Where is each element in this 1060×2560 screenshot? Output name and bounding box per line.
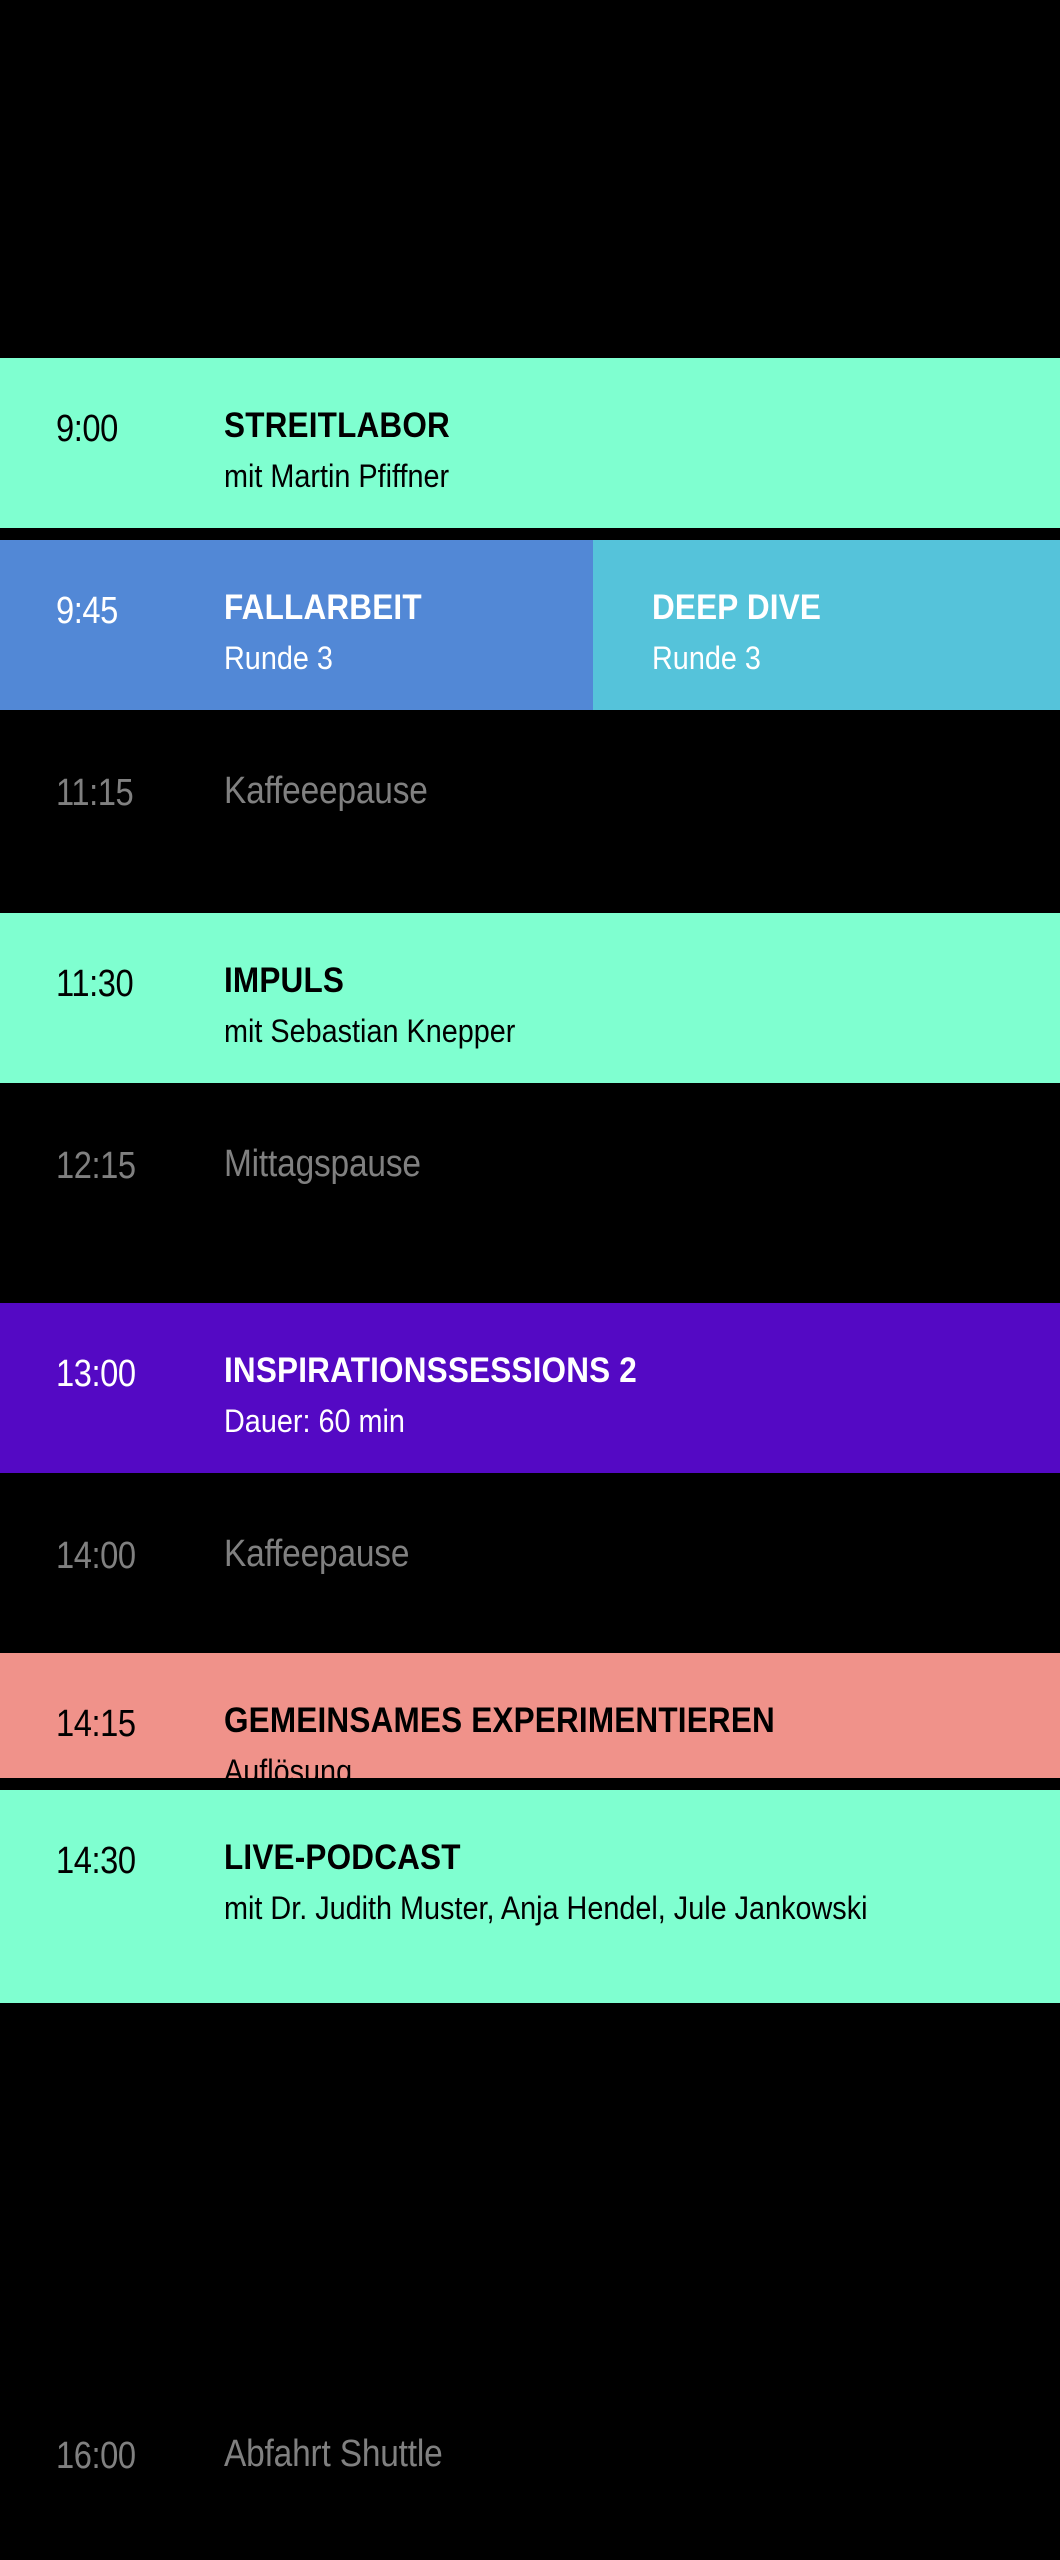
session-subtitle: Auflösung bbox=[224, 1755, 958, 1787]
session-text-block: GEMEINSAMES EXPERIMENTIERENAuflösung bbox=[224, 1703, 1040, 1787]
session-title: INSPIRATIONSSESSIONS 2 bbox=[224, 1353, 958, 1388]
session-title: LIVE-PODCAST bbox=[224, 1840, 958, 1875]
session-title: Mittagspause bbox=[224, 1145, 942, 1183]
schedule-row: 9:00STREITLABORmit Martin Pfiffner bbox=[0, 358, 1060, 528]
session-time: 16:00 bbox=[56, 2435, 136, 2478]
schedule-row: 14:30LIVE-PODCASTmit Dr. Judith Muster, … bbox=[0, 1790, 1060, 2003]
session-subtitle: mit Martin Pfiffner bbox=[224, 460, 958, 492]
schedule-row: 14:15GEMEINSAMES EXPERIMENTIERENAuflösun… bbox=[0, 1653, 1060, 1778]
schedule-row: 12:15Mittagspause bbox=[0, 1095, 1060, 1215]
session-title: IMPULS bbox=[224, 963, 958, 998]
session-subtitle: Dauer: 60 min bbox=[224, 1405, 958, 1437]
session-title: Kaffeeepause bbox=[224, 772, 942, 810]
session-time: 9:45 bbox=[56, 590, 118, 633]
session-text-block: STREITLABORmit Martin Pfiffner bbox=[224, 408, 1040, 492]
session-time: 12:15 bbox=[56, 1145, 136, 1188]
session-title: Kaffeepause bbox=[224, 1535, 942, 1573]
session-time: 14:00 bbox=[56, 1535, 136, 1578]
session-title: STREITLABOR bbox=[224, 408, 958, 443]
session-time: 14:15 bbox=[56, 1703, 136, 1746]
session-title: Abfahrt Shuttle bbox=[224, 2435, 942, 2473]
schedule-row: 13:00INSPIRATIONSSESSIONS 2Dauer: 60 min bbox=[0, 1303, 1060, 1473]
session-text-block: Kaffeeepause bbox=[224, 772, 1040, 810]
session-time: 14:30 bbox=[56, 1840, 136, 1883]
schedule-row: 14:00Kaffeepause bbox=[0, 1485, 1060, 1605]
session-subtitle: mit Dr. Judith Muster, Anja Hendel, Jule… bbox=[224, 1892, 958, 1924]
schedule-table: 9:00STREITLABORmit Martin Pfiffner9:45FA… bbox=[0, 0, 1060, 2560]
session-text-block: DEEP DIVERunde 3 bbox=[652, 590, 1046, 674]
schedule-row: 11:30IMPULSmit Sebastian Knepper bbox=[0, 913, 1060, 1083]
session-text-block: Mittagspause bbox=[224, 1145, 1040, 1183]
session-text-block: LIVE-PODCASTmit Dr. Judith Muster, Anja … bbox=[224, 1840, 1040, 1924]
session-text-block: Kaffeepause bbox=[224, 1535, 1040, 1573]
session-title: DEEP DIVE bbox=[652, 590, 1007, 625]
session-time: 9:00 bbox=[56, 408, 118, 451]
schedule-row: 16:00Abfahrt Shuttle bbox=[0, 2385, 1060, 2505]
session-subtitle: Runde 3 bbox=[652, 642, 1007, 674]
session-text-block: IMPULSmit Sebastian Knepper bbox=[224, 963, 1040, 1047]
session-subtitle: mit Sebastian Knepper bbox=[224, 1015, 958, 1047]
session-time: 11:15 bbox=[56, 772, 133, 815]
schedule-row: 9:45FALLARBEITRunde 3DEEP DIVERunde 3 bbox=[0, 540, 1060, 710]
session-time: 11:30 bbox=[56, 963, 133, 1006]
session-title: GEMEINSAMES EXPERIMENTIEREN bbox=[224, 1703, 958, 1738]
session-text-block: INSPIRATIONSSESSIONS 2Dauer: 60 min bbox=[224, 1353, 1040, 1437]
schedule-row: 11:15Kaffeeepause bbox=[0, 722, 1060, 842]
session-text-block: Abfahrt Shuttle bbox=[224, 2435, 1040, 2473]
session-time: 13:00 bbox=[56, 1353, 136, 1396]
